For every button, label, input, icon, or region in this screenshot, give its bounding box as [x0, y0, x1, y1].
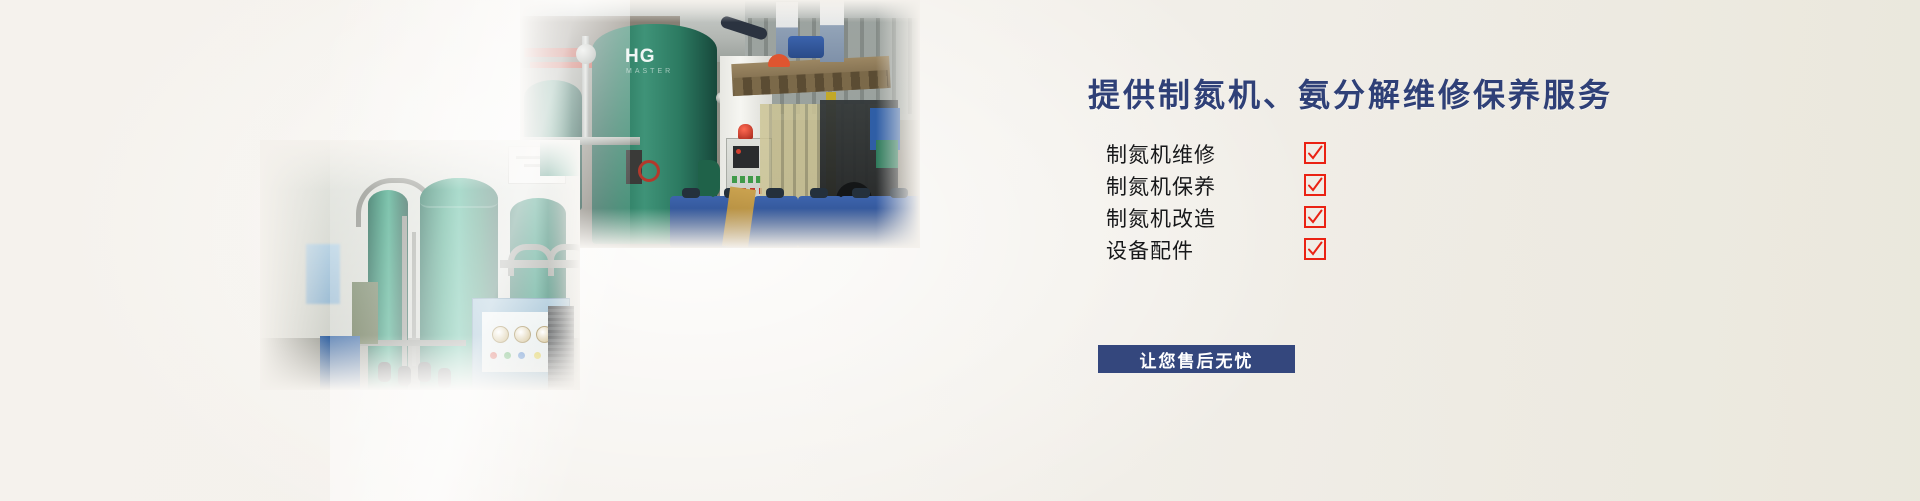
blue-equipment-box	[320, 336, 360, 390]
panel-led-red	[490, 352, 497, 359]
blue-barrel	[788, 36, 824, 58]
service-list: 制氮机维修 制氮机保养 制氮机改造	[1106, 138, 1406, 266]
panel-dial	[492, 326, 509, 343]
green-canister	[876, 140, 898, 168]
cabinet-red-led	[736, 149, 741, 154]
alarm-beacon	[738, 124, 753, 139]
valve	[378, 362, 391, 382]
list-item: 制氮机改造	[1106, 202, 1406, 234]
background-green-tank	[540, 140, 580, 176]
valve	[418, 362, 431, 382]
service-label: 制氮机改造	[1106, 203, 1216, 233]
photo-nitrogen-generator-workshop: HG MASTER	[520, 0, 920, 248]
valve-handwheel	[638, 160, 660, 182]
page-title: 提供制氮机、氨分解维修保养服务	[1088, 70, 1613, 116]
banner-content: 提供制氮机、氨分解维修保养服务 制氮机维修 制氮机保养	[1088, 62, 1648, 392]
service-banner: HG MASTER	[0, 0, 1920, 501]
check-icon	[1304, 206, 1326, 228]
vessel-brand-text: HG	[625, 46, 656, 68]
panel-led-blue	[518, 352, 525, 359]
list-item: 制氮机维修	[1106, 138, 1406, 170]
olive-equipment-box	[352, 282, 378, 344]
jerrycan	[798, 196, 842, 248]
valve	[438, 368, 451, 388]
panel-led-yellow	[534, 352, 541, 359]
jerrycan	[670, 196, 714, 248]
blue-wall-panel	[306, 244, 340, 304]
cta-button[interactable]: 让您售后无忧	[1098, 345, 1295, 373]
panel-dial	[514, 326, 531, 343]
pipe-flange	[576, 44, 596, 64]
list-item: 设备配件	[1106, 234, 1406, 266]
service-label: 设备配件	[1106, 235, 1194, 265]
valve	[398, 366, 411, 386]
panel-led-green	[504, 352, 511, 359]
photo-scene	[260, 140, 580, 390]
photo-psa-nitrogen-skid	[260, 140, 580, 390]
list-item: 制氮机保养	[1106, 170, 1406, 202]
jerrycan-row	[670, 182, 920, 248]
cooling-grille	[548, 306, 574, 390]
horizontal-pipe	[500, 260, 580, 268]
jerrycan	[754, 196, 798, 248]
cta-button-label: 让您售后无忧	[1140, 347, 1254, 372]
vessel-brand-subtext: MASTER	[626, 68, 673, 75]
service-label: 制氮机维修	[1106, 139, 1216, 169]
check-icon	[1304, 174, 1326, 196]
jerrycan	[878, 196, 920, 248]
check-icon	[1304, 142, 1326, 164]
check-icon	[1304, 238, 1326, 260]
photo-scene: HG MASTER	[520, 0, 920, 248]
service-label: 制氮机保养	[1106, 171, 1216, 201]
